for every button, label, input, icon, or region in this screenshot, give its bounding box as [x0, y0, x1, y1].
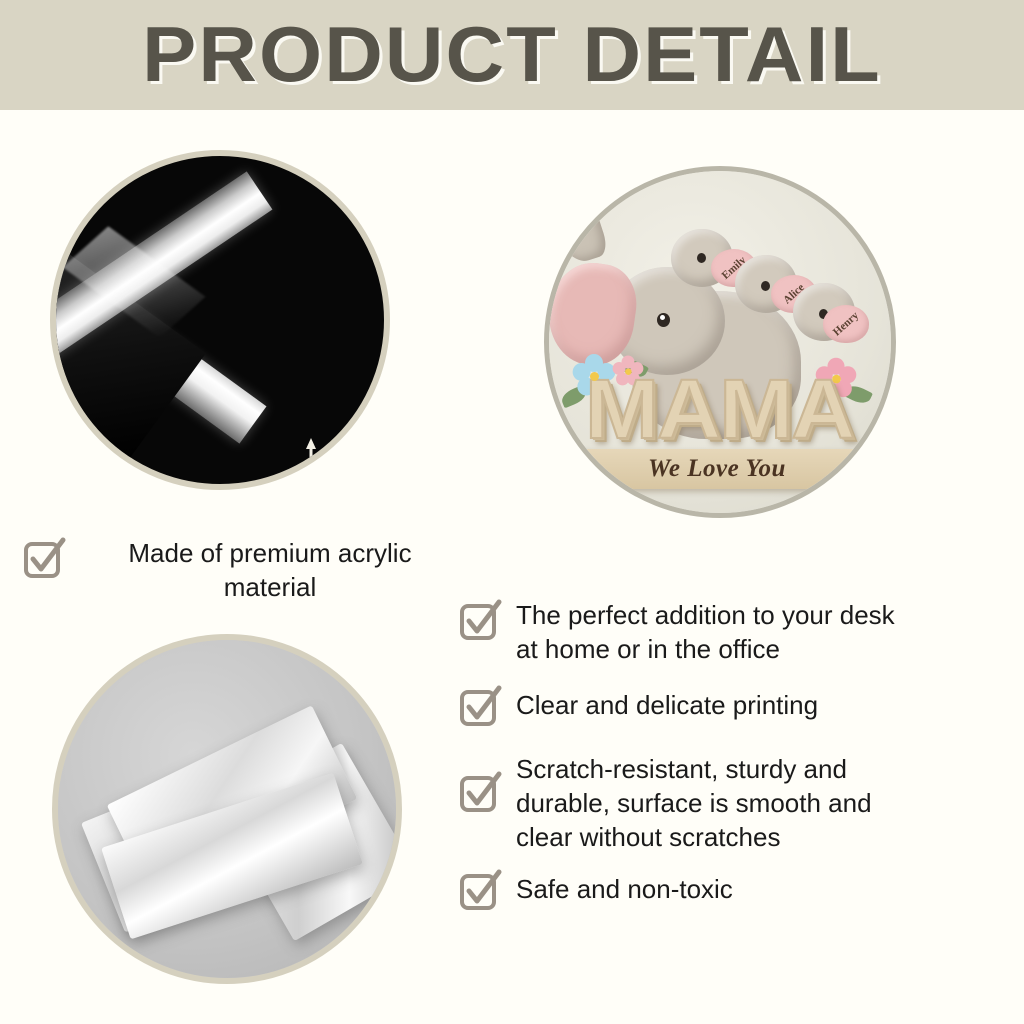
feature-item-scratch: Scratch-resistant, sturdy and durable, s…	[458, 752, 1018, 854]
name-tag-3-label: Henry	[831, 310, 861, 339]
mama-elephant-trunk	[544, 166, 610, 268]
acrylic-edge-illustration	[56, 156, 384, 484]
thickness-label: Thickness 0.55 in	[326, 449, 390, 490]
product-sub-word: We Love You	[579, 449, 855, 489]
checkbox-checked-icon	[458, 868, 502, 912]
product-photo: Emily Alice Henry MAMA We Love You	[544, 166, 896, 518]
feature-item-desk: The perfect addition to your desk at hom…	[458, 598, 1018, 666]
feature-label: Made of premium acrylic material	[80, 536, 460, 604]
name-tag-3: Henry	[823, 305, 869, 343]
acrylic-blocks-scene	[58, 640, 396, 978]
product-scene: Emily Alice Henry MAMA We Love You	[549, 171, 891, 513]
feature-label: Scratch-resistant, sturdy and durable, s…	[516, 752, 872, 854]
feature-item-print: Clear and delicate printing	[458, 688, 1018, 728]
header-banner: PRODUCT DETAIL	[0, 0, 1024, 110]
product-main-word: MAMA	[585, 367, 853, 451]
feature-label: Clear and delicate printing	[516, 688, 818, 722]
acrylic-edge-photo: Thickness 0.55 in	[50, 150, 390, 490]
acrylic-blocks-photo	[52, 634, 402, 984]
feature-label: The perfect addition to your desk at hom…	[516, 598, 895, 666]
mama-elephant-eye	[657, 313, 670, 327]
baby-elephant-2-eye	[761, 281, 770, 291]
feature-label: Safe and non-toxic	[516, 872, 733, 906]
thickness-arrow-icon	[304, 438, 318, 490]
feature-item-safe: Safe and non-toxic	[458, 872, 1018, 912]
page-title: PRODUCT DETAIL	[0, 8, 1024, 100]
checkbox-checked-icon	[22, 536, 66, 580]
thickness-callout: Thickness 0.55 in	[304, 438, 390, 490]
feature-item-acrylic: Made of premium acrylic material	[22, 536, 472, 604]
checkbox-checked-icon	[458, 598, 502, 642]
checkbox-checked-icon	[458, 684, 502, 728]
product-sub-banner: We Love You	[579, 449, 855, 489]
baby-elephant-1-eye	[697, 253, 706, 263]
checkbox-checked-icon	[458, 770, 502, 814]
